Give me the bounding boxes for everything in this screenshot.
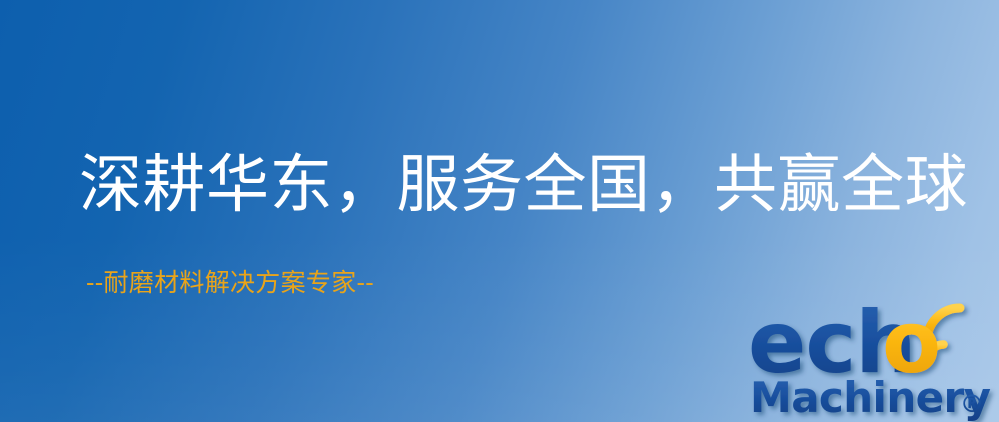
logo-machinery-word: Machinery [750,373,991,422]
banner-subtitle: --耐磨材料解决方案专家-- [86,269,374,297]
logo-registered-trademark: ® [960,390,984,418]
promo-banner: 深耕华东，服务全国，共赢全球 --耐磨材料解决方案专家-- [0,0,999,422]
page-title: 深耕华东，服务全国，共赢全球 [79,152,968,218]
echo-machinery-logo: ech o Machinery ® [748,296,999,422]
